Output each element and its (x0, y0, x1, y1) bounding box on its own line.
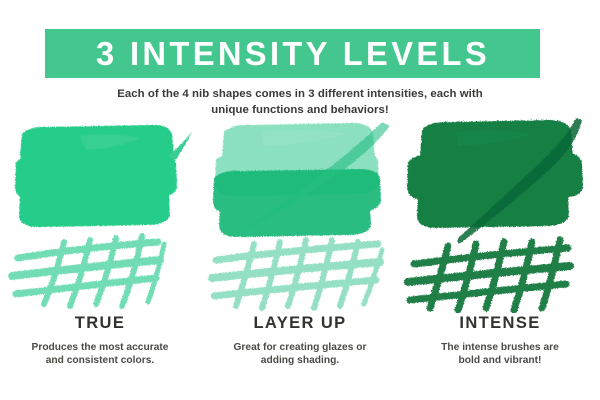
caption-body-intense-line-1: The intense brushes are (441, 341, 559, 355)
header-banner: 3 INTENSITY LEVELS (45, 29, 540, 78)
intensity-column-true: TRUE Produces the most accurate and cons… (0, 118, 200, 400)
page-title: 3 INTENSITY LEVELS (95, 37, 489, 70)
caption-title-true: TRUE (75, 315, 126, 332)
layer-up-intensity-swatch (200, 118, 400, 313)
caption-body-true: Produces the most accurate and consisten… (32, 341, 169, 368)
intense-intensity-swatch (400, 118, 600, 313)
hatch-horizontal-1 (414, 248, 568, 264)
subtitle-line-2: unique functions and behaviors! (60, 102, 540, 118)
subtitle: Each of the 4 nib shapes comes in 3 diff… (60, 86, 540, 118)
crosshatch-group (212, 240, 382, 308)
brush-stroke-band-bottom (19, 186, 170, 227)
caption-title-layer-up: LAYER UP (253, 315, 346, 332)
hatch-diagonal-5 (148, 244, 164, 302)
crosshatch-group (12, 236, 164, 306)
caption-body-true-line-2: and consistent colors. (32, 354, 169, 368)
caption-body-layer-up: Great for creating glazes or adding shad… (233, 341, 366, 368)
hatch-horizontal-3 (16, 278, 156, 294)
caption-body-true-line-1: Produces the most accurate (32, 341, 169, 355)
hatch-horizontal-2 (408, 266, 570, 282)
infographic-page: 3 INTENSITY LEVELS Each of the 4 nib sha… (0, 0, 600, 400)
caption-body-intense: The intense brushes are bold and vibrant… (441, 341, 559, 368)
intensity-column-layer-up: LAYER UP Great for creating glazes or ad… (200, 118, 400, 400)
caption-title-intense: INTENSE (459, 315, 540, 332)
true-intensity-swatch (0, 118, 200, 313)
hatch-diagonal-6 (364, 250, 382, 304)
intensity-column-intense: INTENSE The intense brushes are bold and… (400, 118, 600, 400)
intensity-columns: TRUE Produces the most accurate and cons… (0, 118, 600, 400)
caption-body-layer-up-line-1: Great for creating glazes or (233, 341, 366, 355)
crosshatch-group (408, 240, 570, 310)
caption-body-layer-up-line-2: adding shading. (233, 354, 366, 368)
hatch-diagonal-5 (340, 242, 358, 306)
caption-body-intense-line-2: bold and vibrant! (441, 354, 559, 368)
subtitle-line-1: Each of the 4 nib shapes comes in 3 diff… (60, 86, 540, 102)
